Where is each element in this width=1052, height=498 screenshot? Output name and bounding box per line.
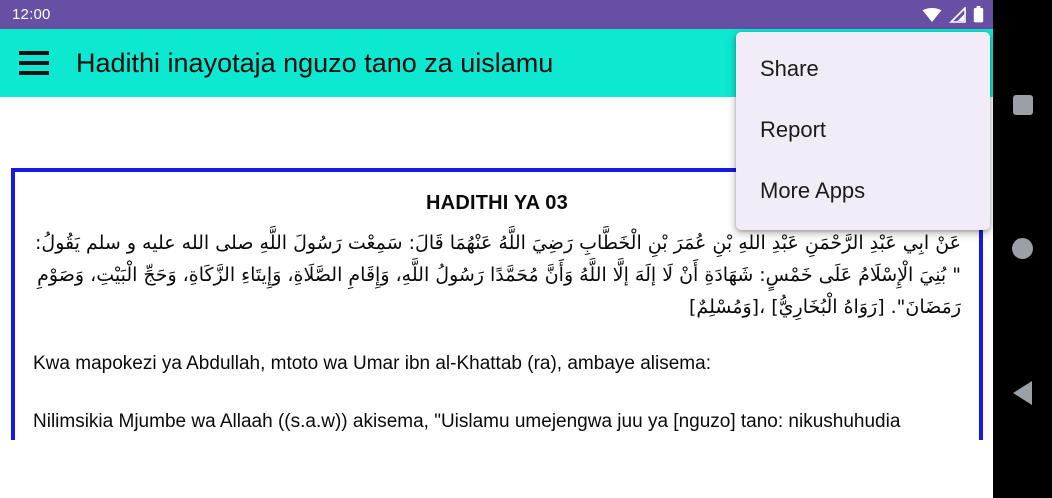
status-time: 12:00 [12,0,51,29]
app-title: Hadithi inayotaja nguzo tano za uislamu [76,29,553,97]
hamburger-menu-button[interactable] [0,29,68,97]
phone-viewport: 12:00 Hadith [0,0,993,498]
hadith-arabic-text: عَنْ ابِي عَبْدِ الرَّحْمَنِ عَبْدِ الله… [33,227,961,323]
hadith-swahili-body: Nilimsikia Mjumbe wa Allaah ((s.a.w)) ak… [33,407,961,440]
hamburger-menu-icon [19,51,49,75]
back-button[interactable] [993,369,1052,417]
android-nav-bar [993,0,1052,498]
circle-icon [1012,238,1033,259]
overflow-menu[interactable]: Share Report More Apps [736,32,990,230]
menu-item-share[interactable]: Share [736,38,990,99]
menu-item-more-apps[interactable]: More Apps [736,160,990,221]
status-bar: 12:00 [0,0,993,29]
recents-button[interactable] [993,81,1052,129]
hadith-swahili-intro: Kwa mapokezi ya Abdullah, mtoto wa Umar … [33,349,961,379]
battery-icon [973,6,984,23]
triangle-left-icon [1013,381,1032,405]
wifi-icon [922,7,942,23]
home-button[interactable] [993,224,1052,272]
square-icon [1013,95,1033,115]
signal-icon [949,7,966,23]
screen: 12:00 Hadith [0,0,1052,498]
menu-item-report[interactable]: Report [736,99,990,160]
status-icons [922,6,984,23]
